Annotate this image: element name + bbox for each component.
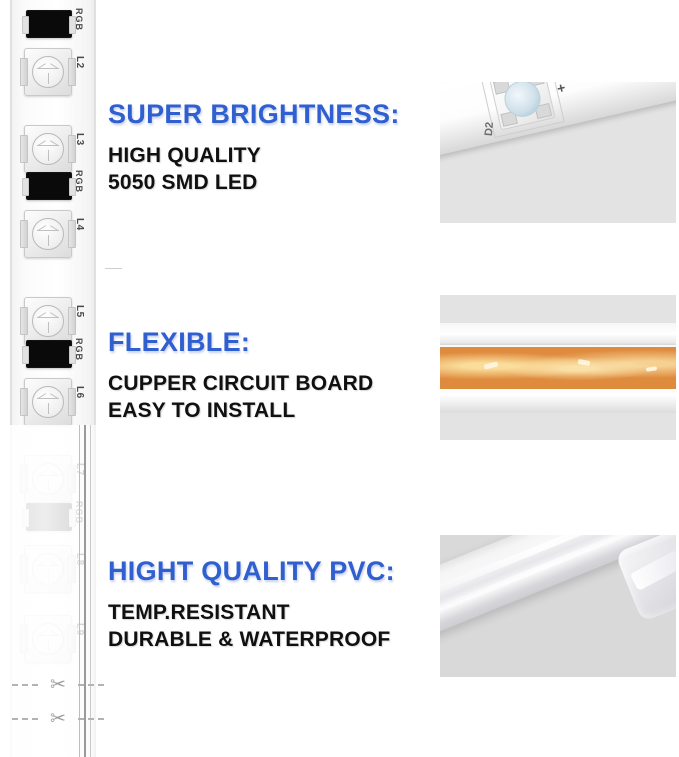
led-dome bbox=[32, 218, 64, 250]
feature-block-flexible: FLEXIBLE: CUPPER CIRCUIT BOARD EASY TO I… bbox=[108, 328, 373, 425]
led-silkscreen-label: L6 bbox=[74, 386, 85, 399]
jacket-edge bbox=[440, 389, 676, 391]
feature-line: CUPPER CIRCUIT BOARD bbox=[108, 370, 373, 398]
ic-component bbox=[26, 172, 72, 200]
led-dome bbox=[32, 386, 64, 418]
smd-led-package bbox=[24, 125, 72, 173]
ic-component bbox=[26, 10, 72, 38]
smd-led-package bbox=[24, 48, 72, 96]
pvc-sleeve-photo bbox=[440, 535, 676, 677]
feature-line: 5050 SMD LED bbox=[108, 169, 400, 197]
cut-dash bbox=[78, 718, 104, 720]
led-dome bbox=[32, 305, 64, 337]
scissors-icon: ✂ bbox=[50, 710, 66, 729]
copper-circuit-board-photo bbox=[440, 295, 676, 440]
rgb-silkscreen-label: RGB bbox=[74, 8, 84, 31]
divider-tick bbox=[105, 268, 122, 269]
feature-heading: HIGHT QUALITY PVC: bbox=[108, 557, 395, 587]
tube-end-facet bbox=[630, 550, 676, 591]
led-silkscreen-label: L2 bbox=[74, 56, 85, 69]
feature-line: EASY TO INSTALL bbox=[108, 397, 373, 425]
feature-line: TEMP.RESISTANT bbox=[108, 599, 395, 627]
rgb-silkscreen-label: RGB bbox=[74, 170, 84, 193]
smd-led-macro-photo: R11 D2 + bbox=[440, 82, 676, 223]
smd-led-package bbox=[24, 210, 72, 258]
ic-component bbox=[26, 340, 72, 368]
silkscreen-d2: D2 bbox=[483, 122, 496, 137]
smd-led-package bbox=[24, 297, 72, 345]
led-silkscreen-label: L3 bbox=[74, 133, 85, 146]
feature-heading: SUPER BRIGHTNESS: bbox=[108, 100, 400, 130]
pcb-board: R11 D2 + bbox=[440, 82, 676, 161]
feature-line: HIGH QUALITY bbox=[108, 142, 400, 170]
copper-highlights bbox=[440, 347, 676, 389]
cut-mark: ✂ bbox=[6, 706, 110, 732]
cut-dash bbox=[78, 684, 104, 686]
feature-block-brightness: SUPER BRIGHTNESS: HIGH QUALITY 5050 SMD … bbox=[108, 100, 400, 197]
scissors-icon: ✂ bbox=[50, 676, 66, 695]
led-silkscreen-label: L4 bbox=[74, 218, 85, 231]
led-dome bbox=[32, 133, 64, 165]
cut-mark: ✂ bbox=[6, 672, 110, 698]
feature-heading: FLEXIBLE: bbox=[108, 328, 373, 358]
rgb-silkscreen-label: RGB bbox=[74, 338, 84, 361]
smd-led-package bbox=[24, 378, 72, 426]
cut-dash bbox=[12, 718, 38, 720]
feature-block-pvc: HIGHT QUALITY PVC: TEMP.RESISTANT DURABL… bbox=[108, 557, 395, 654]
feature-line: DURABLE & WATERPROOF bbox=[108, 626, 395, 654]
copper-braid bbox=[440, 347, 676, 389]
led-dome bbox=[32, 56, 64, 88]
cut-dash bbox=[12, 684, 38, 686]
led-silkscreen-label: L5 bbox=[74, 305, 85, 318]
